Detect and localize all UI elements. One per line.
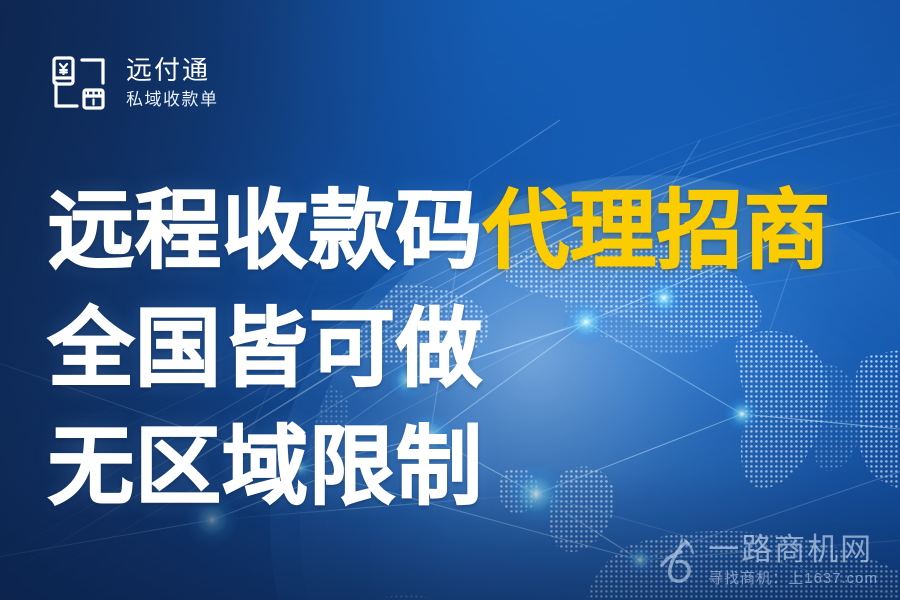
promo-banner: 远付通 私域收款单 远程收款码 代理招商 全国皆可做 无区域限制 bbox=[0, 0, 900, 600]
watermark-text-block: 一路商机网 寻找商机：上1637.com bbox=[708, 534, 878, 588]
headline-segment-yellow: 代理招商 bbox=[483, 172, 831, 290]
headline-segment-white: 远程收款码 bbox=[48, 172, 483, 290]
brand-logo[interactable]: 远付通 私域收款单 bbox=[48, 52, 219, 114]
remote-payment-qr-icon bbox=[48, 52, 110, 114]
brand-text-block: 远付通 私域收款单 bbox=[126, 55, 219, 110]
headline-line-1: 远程收款码 代理招商 bbox=[48, 172, 831, 290]
watermark-subtitle: 寻找商机：上1637.com bbox=[708, 569, 878, 589]
site-watermark[interactable]: 一路商机网 寻找商机：上1637.com bbox=[652, 534, 878, 588]
headline-line-2: 全国皆可做 bbox=[48, 290, 831, 408]
headline-line-3: 无区域限制 bbox=[48, 408, 831, 526]
headline-segment-white: 全国皆可做 bbox=[48, 290, 483, 408]
swirl-bird-mark-icon bbox=[652, 535, 702, 587]
brand-name: 远付通 bbox=[126, 55, 219, 85]
watermark-name: 一路商机网 bbox=[708, 534, 878, 567]
headline-block: 远程收款码 代理招商 全国皆可做 无区域限制 bbox=[48, 172, 831, 526]
headline-segment-white: 无区域限制 bbox=[48, 408, 483, 526]
brand-subtitle: 私域收款单 bbox=[126, 89, 219, 111]
